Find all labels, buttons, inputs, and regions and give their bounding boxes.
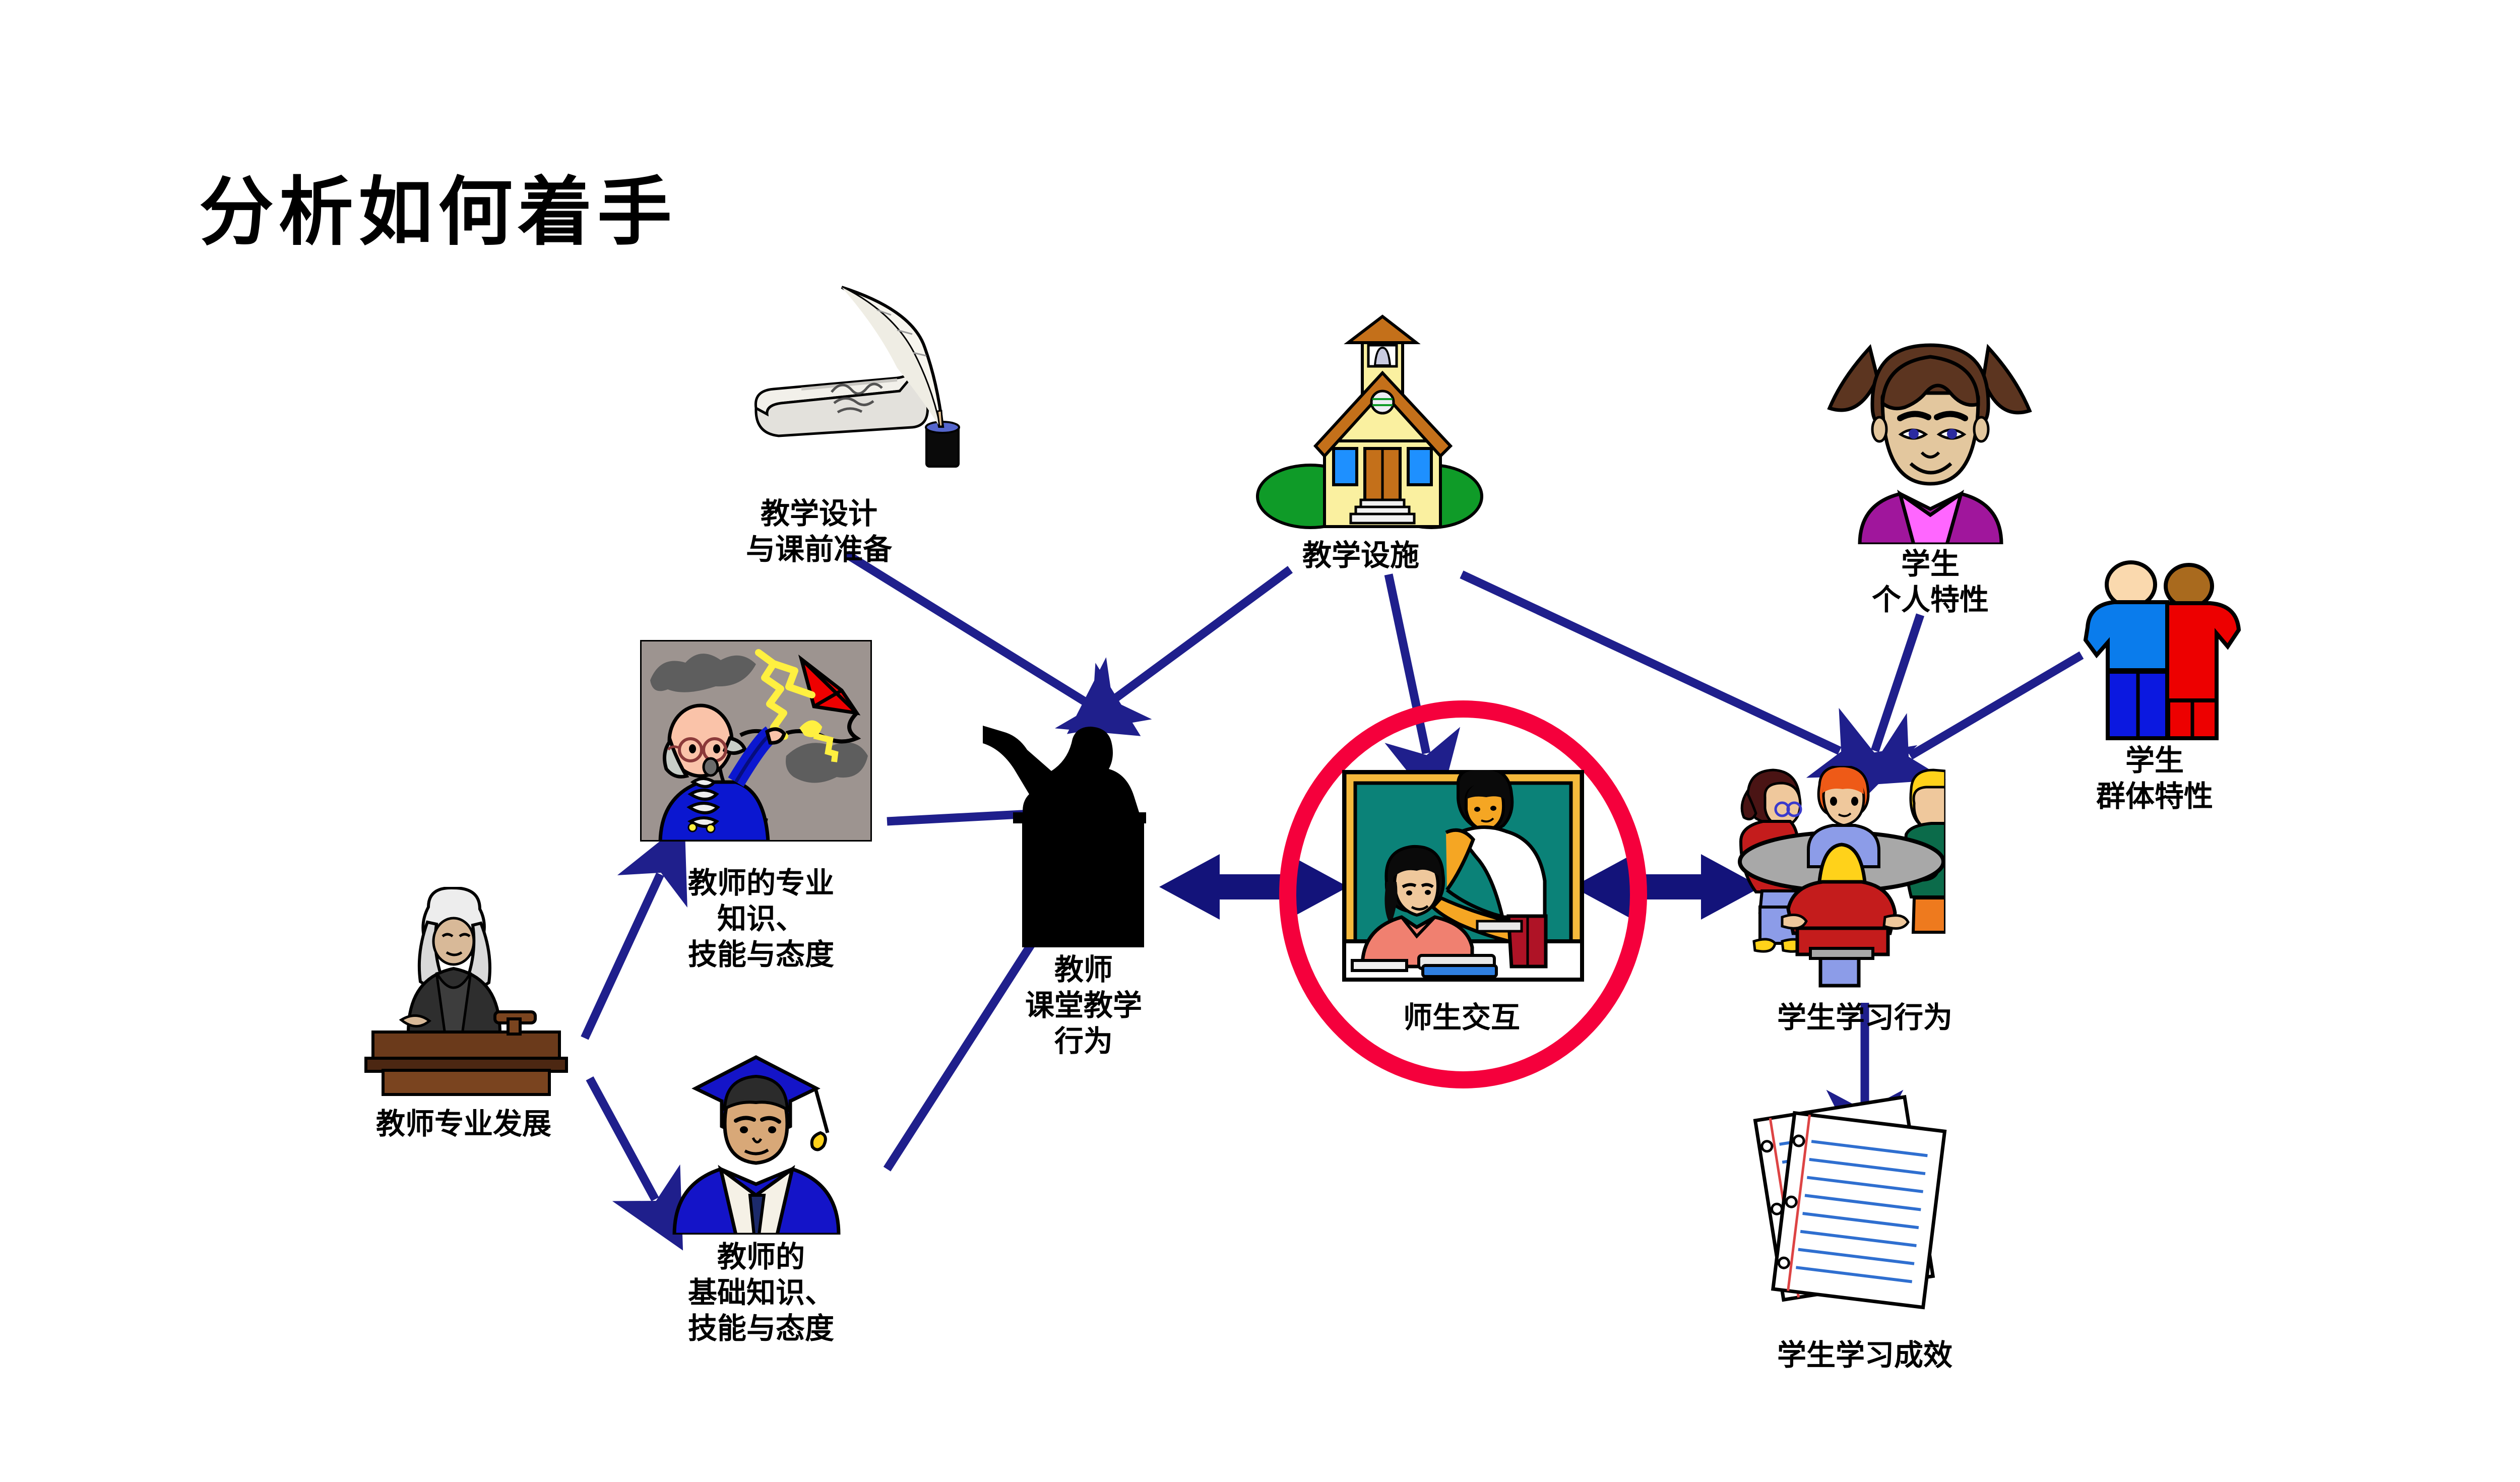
node-student-learning-outcome[interactable]	[1729, 1093, 1961, 1313]
node-teacher-student-interaction[interactable]	[1342, 770, 1584, 984]
node-teacher-prof-development[interactable]	[353, 887, 580, 1101]
girl-face-icon	[1812, 317, 2049, 544]
teacher-helping-student-icon	[1342, 770, 1584, 982]
lecturer-silhouette-icon	[983, 695, 1184, 947]
slide-canvas: 分析如何着手	[0, 0, 2520, 1482]
two-people-icon	[2076, 557, 2248, 743]
graduate-icon	[645, 1018, 867, 1235]
page-title: 分析如何着手	[199, 151, 677, 260]
node-teacher-classroom-behavior[interactable]	[983, 695, 1184, 950]
label-student-learning-behavior: 学生学习行为	[1724, 1000, 2006, 1036]
node-teacher-prof-knowledge[interactable]	[640, 640, 872, 844]
node-student-individual[interactable]	[1812, 317, 2049, 547]
scroll-quill-icon	[726, 282, 988, 484]
label-teacher-classroom-behavior: 教师 课堂教学 行为	[983, 952, 1184, 1059]
label-student-learning-outcome: 学生学习成效	[1724, 1338, 2006, 1374]
students-at-table-icon	[1734, 766, 1945, 993]
node-student-group[interactable]	[2076, 557, 2248, 746]
judge-bench-icon	[353, 887, 580, 1099]
label-teacher-prof-development: 教师专业发展	[323, 1107, 605, 1142]
notebook-pages-icon	[1729, 1093, 1961, 1310]
node-student-learning-behavior[interactable]	[1734, 766, 1945, 995]
node-lesson-design[interactable]	[726, 282, 988, 486]
franklin-kite-icon	[640, 640, 872, 842]
label-teaching-facility: 教学设施	[1255, 538, 1467, 574]
label-student-group: 学生 群体特性	[2049, 743, 2260, 815]
label-lesson-design: 教学设计 与课前准备	[713, 496, 925, 568]
label-teacher-basic-knowledge: 教师的 基础知识、 技能与态度	[650, 1240, 872, 1346]
label-teacher-prof-knowledge: 教师的专业 知识、 技能与态度	[650, 866, 872, 973]
label-teacher-student-interaction: 师生交互	[1336, 1000, 1588, 1036]
node-teaching-facility[interactable]	[1235, 302, 1487, 532]
label-student-individual: 学生 个人特性	[1824, 547, 2036, 618]
schoolhouse-icon	[1235, 302, 1487, 529]
node-teacher-basic-knowledge[interactable]	[645, 1018, 867, 1237]
